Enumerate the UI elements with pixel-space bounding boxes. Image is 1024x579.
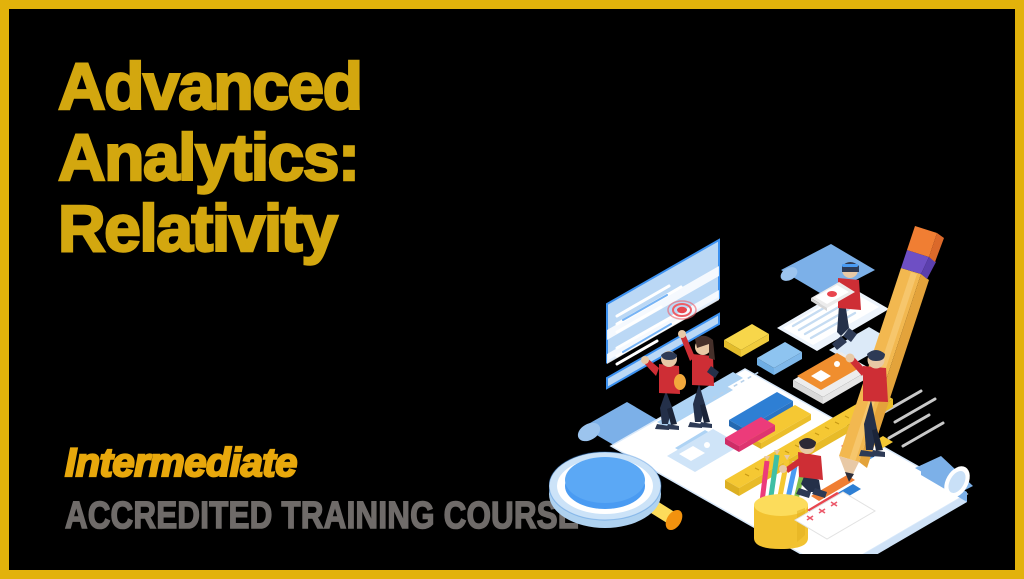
title-line-1: Advanced (58, 51, 528, 122)
course-card: Advanced Analytics: Relativity Intermedi… (0, 0, 1024, 579)
yellow-block (724, 324, 769, 357)
illustration-svg (549, 224, 1019, 554)
page-title: Advanced Analytics: Relativity (58, 51, 528, 264)
blue-block (757, 342, 802, 375)
accreditation-label: ACCREDITED TRAINING COURSE (65, 497, 491, 535)
subtitle-block: Intermediate ACCREDITED TRAINING COURSE (65, 441, 585, 535)
course-level-label: Intermediate (65, 441, 585, 485)
title-line-2: Analytics: (58, 122, 528, 193)
title-line-3: Relativity (58, 193, 528, 264)
tap-indicator-icon (668, 301, 696, 319)
isometric-analytics-illustration (549, 224, 1019, 554)
